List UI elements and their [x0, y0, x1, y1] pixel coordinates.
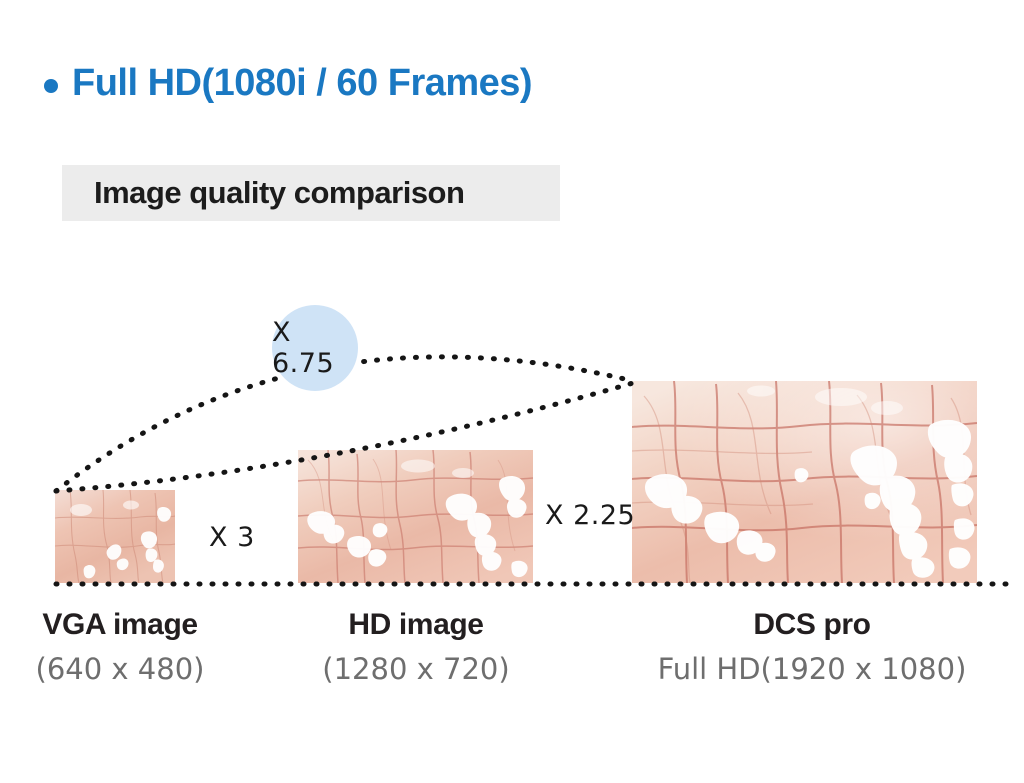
scale-factor-vga-to-hd: X 3 [209, 522, 255, 553]
caption-hd-name: HD image [296, 608, 536, 643]
subheader-band: Image quality comparison [62, 165, 560, 221]
scale-factor-hd-to-dcs: X 2.25 [545, 500, 635, 531]
caption-dcs-name: DCS pro [612, 608, 1012, 643]
caption-hd-resolution: (1280 x 720) [296, 651, 536, 689]
caption-vga: VGA image (640 x 480) [0, 608, 240, 688]
caption-hd: HD image (1280 x 720) [296, 608, 536, 688]
vga-image-thumbnail [55, 490, 175, 583]
slide-title: Full HD(1080i / 60 Frames) [44, 64, 532, 102]
scale-factor-bubble-label: X 6.75 [272, 317, 358, 379]
tissue-image-dcs [632, 381, 977, 583]
hd-image-thumbnail [298, 450, 533, 583]
tissue-image-hd [298, 450, 533, 583]
caption-dcs: DCS pro Full HD(1920 x 1080) [612, 608, 1012, 688]
slide-canvas: Full HD(1080i / 60 Frames) Image quality… [0, 0, 1024, 783]
caption-vga-name: VGA image [0, 608, 240, 643]
bullet-dot-icon [44, 79, 58, 93]
caption-dcs-resolution: Full HD(1920 x 1080) [612, 651, 1012, 689]
dcs-pro-image-thumbnail [632, 381, 977, 583]
scale-factor-bubble: X 6.75 [272, 305, 358, 391]
slide-title-text: Full HD(1080i / 60 Frames) [72, 64, 532, 102]
subheader-text: Image quality comparison [62, 175, 464, 211]
caption-vga-resolution: (640 x 480) [0, 651, 240, 689]
tissue-image-vga [55, 490, 175, 583]
